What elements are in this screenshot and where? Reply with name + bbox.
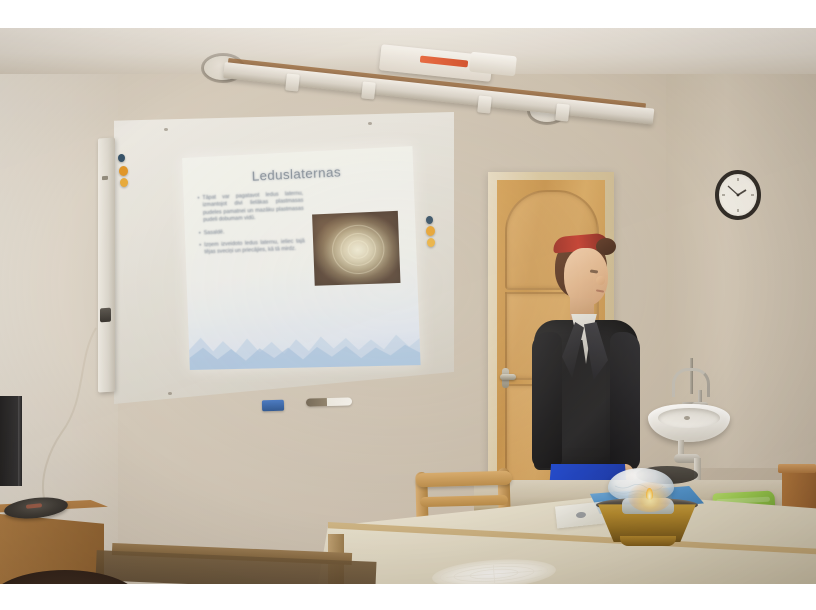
bullet-text: Sasaldē. [204, 226, 305, 238]
whiteboard-eraser[interactable] [262, 400, 284, 412]
whiteboard-status-led-icon [102, 176, 108, 180]
whiteboard-screw [368, 122, 372, 125]
whiteboard-screw [164, 128, 168, 131]
magnet[interactable] [119, 166, 128, 176]
faucet-spout[interactable] [672, 368, 710, 397]
bullet-marker: • [199, 242, 201, 257]
presenter-arm [610, 332, 640, 470]
slide-title: Leduslaternas [183, 161, 414, 188]
slide-image-ice-lantern [312, 211, 400, 286]
whiteboard-marker[interactable] [306, 397, 352, 406]
cabinet-top [778, 464, 816, 473]
whiteboard-power-button[interactable] [100, 308, 111, 323]
magnet[interactable] [118, 154, 125, 162]
whiteboard-screw [168, 392, 172, 395]
bullet-text: Izņem izveidoto ledus laternu, ieliec ta… [204, 238, 305, 257]
projected-slide: Leduslaternas • Tāpat var pagatavot ledu… [182, 146, 420, 370]
door-handle[interactable] [500, 374, 516, 380]
presenter-arm [532, 332, 562, 468]
candle-flame-icon [646, 488, 653, 500]
slide-bullet-item: • Izņem izveidoto ledus laternu, ieliec … [199, 238, 305, 257]
brass-bowl-foot [620, 536, 676, 546]
magnet[interactable] [427, 238, 435, 247]
magnet[interactable] [120, 178, 128, 187]
slide-bullet-item: • Sasaldē. [199, 226, 305, 238]
letterbox-top [0, 0, 816, 28]
bullet-marker: • [199, 230, 201, 237]
magnet[interactable] [426, 216, 433, 224]
slide-mountain-graphic [188, 318, 420, 370]
wall-clock [714, 170, 762, 220]
presenter-nose [596, 276, 605, 285]
bullet-marker: • [197, 195, 200, 225]
slide-bullet-item: • Tāpat var pagatavot ledus laternu, izm… [197, 190, 304, 225]
classroom-photograph: Leduslaternas • Tāpat var pagatavot ledu… [0, 28, 816, 584]
bullet-text: Tāpat var pagatavot ledus laternu, izman… [202, 190, 304, 224]
photo-frame: Leduslaternas • Tāpat var pagatavot ledu… [0, 0, 816, 610]
letterbox-bottom [0, 584, 816, 610]
slide-bullet-list: • Tāpat var pagatavot ledus laternu, izm… [197, 190, 305, 262]
sink-drain-icon [684, 416, 690, 420]
interactive-whiteboard[interactable]: Leduslaternas • Tāpat var pagatavot ledu… [98, 112, 454, 404]
monitor-edge [18, 396, 22, 486]
computer-monitor [0, 396, 20, 486]
chair-backrest[interactable] [416, 471, 512, 488]
magnet[interactable] [426, 226, 435, 236]
